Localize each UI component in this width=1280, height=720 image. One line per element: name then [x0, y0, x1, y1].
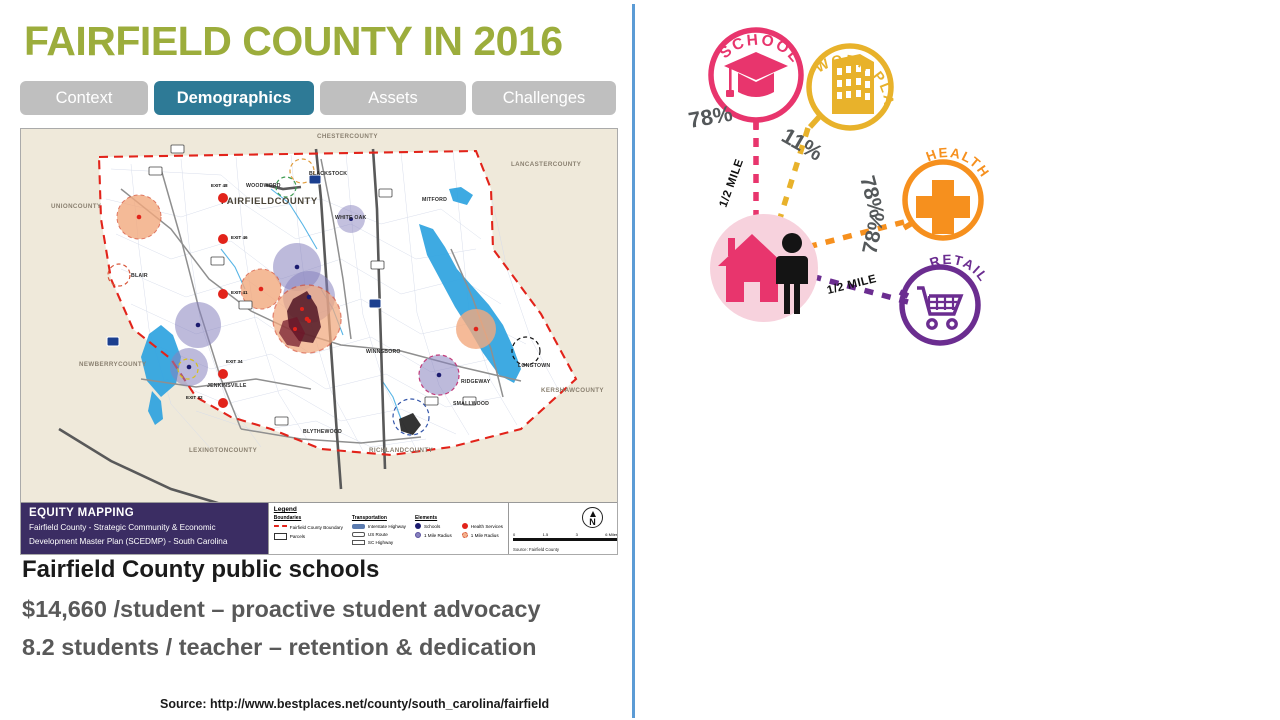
- legend-box: Legend Boundaries Fairfield County Bound…: [268, 503, 508, 554]
- tab-assets[interactable]: Assets: [320, 81, 466, 115]
- health-stem: [904, 222, 914, 228]
- map-label-lexington-county: LEXINGTONCOUNTY: [189, 447, 257, 454]
- legend-group-boundaries: Boundaries Fairfield County Boundary Par…: [274, 515, 343, 548]
- tab-bar: Context Demographics Assets Challenges: [20, 81, 616, 115]
- white-rectangle-icon: [274, 533, 287, 540]
- legend-item-purple-radius: 1 Mile Radius: [415, 532, 452, 538]
- map-town-jenkinsville: JENKINSVILLE: [207, 383, 247, 389]
- legend-group-elements: Elements Schools Health Services: [415, 515, 503, 548]
- school-stats-line2: 8.2 students / teacher – retention & ded…: [22, 634, 537, 661]
- map-exit-41-label: EXIT 41: [231, 290, 248, 295]
- retail-label: RETAIL: [928, 252, 992, 285]
- red-dot-icon: [462, 523, 468, 529]
- legend-heading-boundaries: Boundaries: [274, 515, 343, 521]
- school-stats-heading: Fairfield County public schools: [22, 556, 379, 584]
- equity-mapping-sub2: Development Master Plan (SCEDMP) - South…: [29, 536, 260, 547]
- compass-icon: N: [582, 507, 603, 528]
- map-town-woodward: WOODWORD: [246, 183, 281, 189]
- scale-bar: [513, 538, 618, 541]
- school-stats-line1: $14,660 /student – proactive student adv…: [22, 596, 541, 623]
- map-exit-34-label: EXIT 34: [226, 359, 243, 364]
- map-town-longtown: LONGTOWN: [518, 363, 550, 369]
- legend-title: Legend: [274, 506, 503, 513]
- purple-radius-icon: [415, 532, 421, 538]
- legend-item-interstate: Interstate Highway: [352, 523, 406, 529]
- map-exit-46-marker: [218, 234, 228, 244]
- legend-item-parcels: Parcels: [274, 533, 343, 540]
- school-stats-source: Source: http://www.bestplaces.net/county…: [160, 697, 549, 711]
- legend-item-us-route: US Route: [352, 531, 406, 537]
- map-legend-bar: EQUITY MAPPING Fairfield County - Strate…: [21, 502, 617, 554]
- map-label-newberry-county: NEWBERRYCOUNTY: [79, 361, 147, 368]
- page-title: FAIRFIELD COUNTY IN 2016: [24, 18, 563, 65]
- map-town-blythewood: BLYTHEWOOD: [303, 429, 342, 435]
- equity-mapping-sub1: Fairfield County - Strategic Community &…: [29, 522, 260, 533]
- legend-item-sc-highway: SC Highway: [352, 539, 406, 545]
- map-label-richland-county: RICHLANDCOUNTY: [369, 447, 433, 454]
- map-town-white-oak: WHITE OAK: [335, 215, 366, 221]
- sc-highway-shield-icon: [352, 540, 365, 545]
- red-dashed-line-icon: [274, 525, 287, 531]
- navy-dot-icon: [415, 523, 421, 529]
- retail-circle: [902, 267, 978, 343]
- scale-ticks: 0 1.5 3 6 Miles: [513, 532, 618, 537]
- map-town-ridgeway: RIDGEWAY: [461, 379, 490, 385]
- legend-heading-elements: Elements: [415, 515, 503, 521]
- map-exit-34-marker: [218, 369, 228, 379]
- map-town-winnsboro: WINNSBORO: [366, 349, 401, 355]
- accessibility-infographic: SCHOOL WORK PLACE HEALTH: [660, 0, 1020, 350]
- tab-demographics[interactable]: Demographics: [154, 81, 314, 115]
- school-distance: 1/2 MILE: [718, 157, 747, 209]
- legend-heading-transportation: Transportation: [352, 515, 406, 521]
- equity-mapping-title: EQUITY MAPPING: [29, 507, 260, 519]
- shopping-cart-icon: [917, 288, 961, 328]
- legend-item-schools: Schools: [415, 523, 452, 529]
- legend-item-county-boundary: Fairfield County Boundary: [274, 523, 343, 531]
- tab-challenges[interactable]: Challenges: [472, 81, 616, 115]
- map-exit-48-marker: [218, 193, 228, 203]
- interstate-shield-icon: [352, 524, 365, 529]
- workplace-percent: 11%: [778, 123, 828, 166]
- map-label-kershaw-county: KERSHAWCOUNTY: [541, 387, 604, 394]
- us-route-shield-icon: [352, 532, 365, 537]
- map-graphic: [21, 129, 617, 504]
- map-source: Source: Fairfield County: [513, 547, 559, 552]
- graduation-cap-icon: [724, 52, 788, 97]
- map-town-smallwood: SMALLWOOD: [453, 401, 489, 407]
- equity-mapping-box: EQUITY MAPPING Fairfield County - Strate…: [21, 503, 268, 554]
- left-panel: FAIRFIELD COUNTY IN 2016 Context Demogra…: [0, 0, 632, 720]
- orange-radius-icon: [462, 532, 468, 538]
- legend-group-transportation: Transportation Interstate Highway US Rou…: [352, 515, 406, 548]
- map-town-mitford: MITFORD: [422, 197, 447, 203]
- map-label-fairfield-county: FAIRFIELDCOUNTY: [221, 197, 318, 208]
- school-percent: 78%: [687, 101, 735, 133]
- map-label-lancaster-county: LANCASTERCOUNTY: [511, 161, 581, 168]
- map-town-blair: BLAIR: [131, 273, 148, 279]
- map-exit-46-label: EXIT 46: [231, 235, 248, 240]
- medical-cross-icon: [916, 180, 970, 234]
- tab-context[interactable]: Context: [20, 81, 148, 115]
- retail-stem: [900, 292, 908, 296]
- equity-map[interactable]: UNIONCOUNTY CHESTERCOUNTY LANCASTERCOUNT…: [20, 128, 618, 555]
- legend-item-health-services: Health Services: [462, 523, 503, 529]
- map-exit-41-marker: [218, 289, 228, 299]
- map-label-chester-county: CHESTERCOUNTY: [317, 133, 378, 140]
- workplace-stem: [810, 116, 820, 127]
- map-exit-48-label: EXIT 48: [211, 183, 228, 188]
- map-town-blackstock: BLACKSTOCK: [309, 171, 347, 177]
- retail-percent: 78%: [858, 210, 889, 256]
- map-scale-box: N 0 1.5 3 6 Miles Source: Fairfield Coun…: [508, 503, 617, 554]
- legend-item-orange-radius: 1 Mile Radius: [462, 532, 503, 538]
- map-exit-32-marker: [218, 398, 228, 408]
- right-panel: SCHOOL WORK PLACE HEALTH: [640, 0, 1280, 720]
- map-label-union-county: UNIONCOUNTY: [51, 203, 101, 210]
- panel-divider: [632, 4, 635, 718]
- map-exit-32-label: EXIT 32: [186, 395, 203, 400]
